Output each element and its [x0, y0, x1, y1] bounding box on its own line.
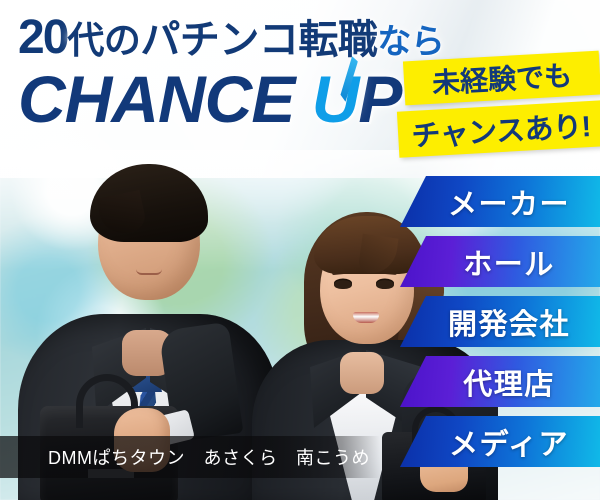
experience-badge: 未経験でも チャンスあり! [384, 56, 600, 162]
female-eye-right [376, 280, 394, 289]
female-eye-left [334, 280, 352, 289]
headline-age-suffix: 代の [67, 20, 140, 61]
headline-u-letter: U [312, 66, 359, 132]
category-label: 代理店 [445, 361, 555, 403]
category-button-maker[interactable]: メーカー [400, 176, 600, 227]
badge-line-1: 未経験でも [403, 51, 600, 106]
category-button-hall[interactable]: ホール [400, 236, 600, 287]
headline-age-number: 20 [18, 11, 67, 64]
category-button-media[interactable]: メディア [400, 416, 600, 467]
category-label: 開発会社 [430, 301, 570, 343]
female-neck [340, 352, 384, 394]
headline-line-1: 20代のパチンコ転職なら [18, 14, 448, 62]
caption-text: DMMぱちタウン あさくら 南こうめ [0, 444, 370, 470]
category-label: ホール [445, 241, 555, 283]
category-button-developer[interactable]: 開発会社 [400, 296, 600, 347]
caption-bar: DMMぱちタウン あさくら 南こうめ [0, 436, 380, 478]
badge-line-2: チャンスあり! [397, 100, 600, 157]
headline-chance-text: CHANCE [18, 62, 312, 136]
male-mouth [136, 269, 162, 275]
female-mouth [353, 312, 379, 323]
category-label: メーカー [430, 181, 570, 223]
category-button-list: メーカー ホール 開発会社 代理店 メディア [400, 176, 600, 476]
headline-keyword: パチンコ転職 [140, 18, 377, 62]
recruitment-banner[interactable]: 20代のパチンコ転職なら CHANCE UP 未経験でも チャンスあり! メーカ… [0, 0, 600, 500]
category-button-agency[interactable]: 代理店 [400, 356, 600, 407]
category-label: メディア [431, 421, 569, 463]
male-hair [90, 164, 208, 242]
